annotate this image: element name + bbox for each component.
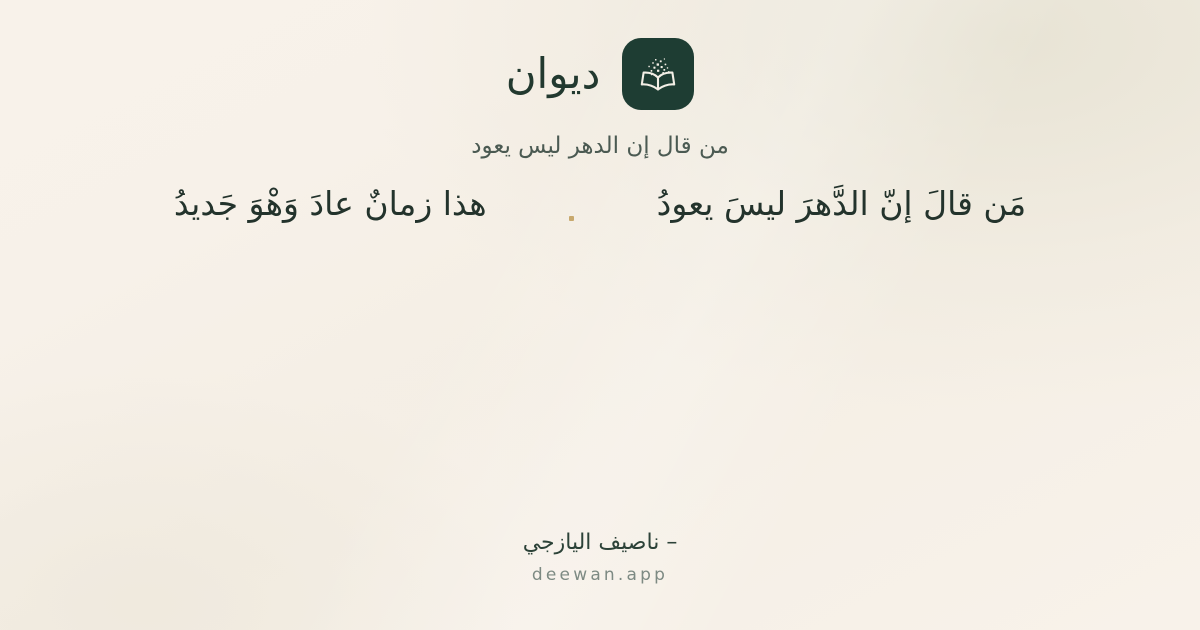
app-wordmark: ديوان — [506, 53, 601, 95]
verse-line: مَن قالَ إنّ الدَّهرَ ليسَ يعودُ هذا زما… — [50, 178, 1150, 229]
app-logo — [622, 38, 694, 110]
site-url: deewan.app — [532, 564, 668, 586]
open-book-sparkles-icon — [635, 51, 681, 97]
poet-attribution: – ناصيف اليازجي — [523, 529, 678, 558]
poem-title: من قال إن الدهر ليس يعود — [471, 132, 729, 162]
share-card: ديوان من قال إن الدهر ليس يعود مَن قالَ … — [0, 0, 1200, 630]
verse-separator — [487, 181, 657, 225]
card-footer: – ناصيف اليازجي deewan.app — [523, 529, 678, 586]
separator-dot-icon — [569, 216, 574, 221]
verse-first-hemistich: مَن قالَ إنّ الدَّهرَ ليسَ يعودُ — [657, 178, 1027, 229]
brand-header: ديوان — [506, 38, 695, 110]
verse-second-hemistich: هذا زمانٌ عادَ وَهْوَ جَديدُ — [174, 178, 487, 229]
poet-name: ناصيف اليازجي — [523, 530, 660, 555]
attribution-dash: – — [666, 530, 677, 555]
